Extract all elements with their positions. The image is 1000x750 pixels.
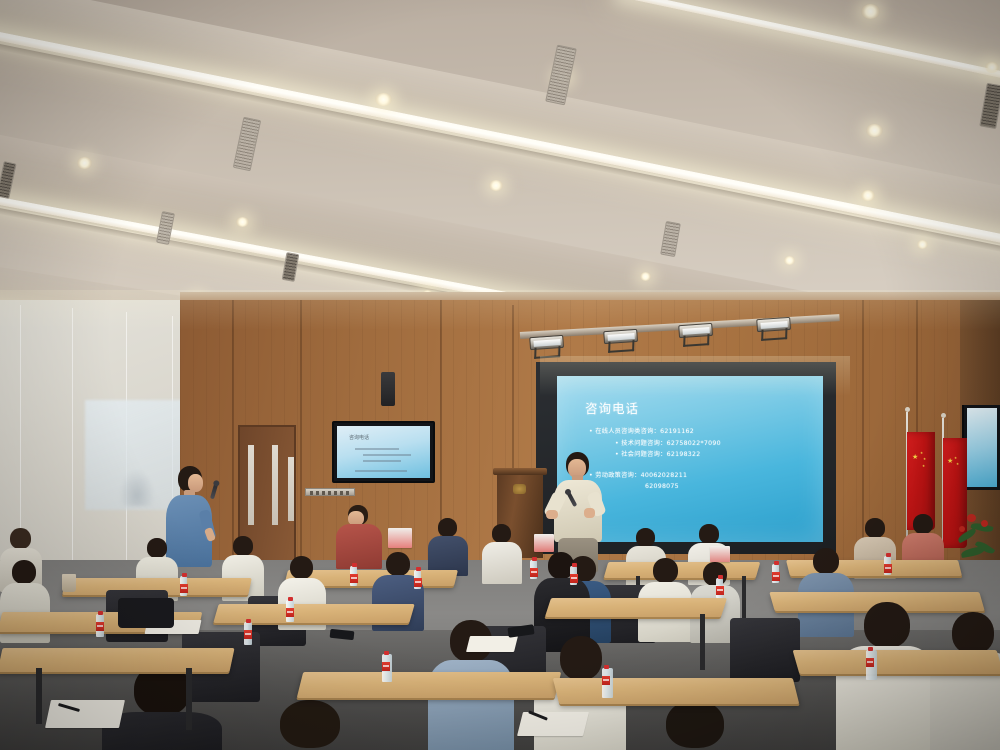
chair[interactable] xyxy=(730,618,800,682)
slide-bullet-line: • 社会问题咨询：62198322 xyxy=(589,449,809,461)
seated-attendee xyxy=(482,524,522,580)
attendee-desk-foreground xyxy=(297,672,561,698)
slide-bullet-line: • 在线人员咨询类咨询：62191162 xyxy=(589,426,809,438)
ceiling-air-vent xyxy=(545,45,577,106)
ceiling-downlight xyxy=(489,180,503,191)
stage-floodlight xyxy=(603,329,639,355)
ceiling-downlight xyxy=(784,256,795,265)
slide-bullet-line: 62098075 xyxy=(589,481,809,493)
attendee-desk-foreground xyxy=(793,650,1000,674)
conference-room-photo: 咨询电话 咨询电话 • 在线人员咨询类咨询：62191162 • 技术问题咨询：… xyxy=(0,0,1000,750)
slide-bullet-line: • 劳动政策咨询：40062028211 xyxy=(589,470,809,482)
ceiling-downlight xyxy=(861,4,880,19)
water-bottle[interactable] xyxy=(866,650,877,680)
left-monitor-title: 咨询电话 xyxy=(349,434,369,441)
table-tent-card xyxy=(534,534,554,552)
ceiling-air-vent xyxy=(979,83,1000,129)
attendee-desk-foreground xyxy=(553,678,799,704)
projection-figure-silhouette xyxy=(120,470,154,506)
water-bottle[interactable] xyxy=(244,622,252,645)
ceiling-air-vent xyxy=(233,117,261,172)
table-tent-card xyxy=(710,546,730,562)
table-tent-card xyxy=(388,528,412,548)
slide-title: 咨询电话 xyxy=(585,398,639,417)
notepad[interactable] xyxy=(45,700,125,728)
stage-floodlight xyxy=(678,323,714,349)
seated-attendee-foreground xyxy=(636,700,756,750)
seated-attendee-foreground xyxy=(930,612,1000,750)
seated-attendee xyxy=(428,518,468,573)
notepad[interactable] xyxy=(517,712,589,736)
seated-attendee-foreground xyxy=(250,700,370,750)
ceiling-downlight xyxy=(236,217,249,227)
water-bottle[interactable] xyxy=(530,560,537,579)
ceiling-downlight xyxy=(917,240,928,249)
water-bottle[interactable] xyxy=(382,654,392,682)
seated-attendee-foreground xyxy=(836,602,936,750)
paper-cup[interactable] xyxy=(62,574,76,592)
right-wall-monitor[interactable] xyxy=(962,405,1000,490)
ceiling-downlight xyxy=(861,190,875,201)
left-wall-monitor[interactable]: 咨询电话 xyxy=(332,421,435,483)
attendee-desk xyxy=(213,604,414,623)
ceiling-downlight xyxy=(985,62,999,73)
water-bottle[interactable] xyxy=(286,600,294,622)
notepad[interactable] xyxy=(466,636,518,652)
water-bottle[interactable] xyxy=(772,564,779,583)
stage-floodlight xyxy=(756,317,792,343)
water-bottle[interactable] xyxy=(350,566,357,586)
water-bottle[interactable] xyxy=(602,668,613,698)
ceiling-light-strip xyxy=(619,0,1000,88)
water-bottle[interactable] xyxy=(716,578,723,598)
slide-bullet-line: • 技术问题咨询：62758022*7090 xyxy=(589,438,809,450)
water-bottle[interactable] xyxy=(180,576,187,596)
water-bottle[interactable] xyxy=(884,556,891,575)
wall-speaker xyxy=(381,372,395,406)
stage-floodlight xyxy=(529,335,565,361)
slide-bullet-list: • 在线人员咨询类咨询：62191162 • 技术问题咨询：62758022*7… xyxy=(589,426,809,493)
water-bottle[interactable] xyxy=(414,570,421,589)
ceiling-downlight xyxy=(77,157,92,169)
ceiling-air-vent xyxy=(660,221,681,257)
ceiling-downlight xyxy=(866,124,883,137)
water-bottle[interactable] xyxy=(96,614,104,637)
water-bottle[interactable] xyxy=(570,566,577,585)
ceiling-downlight xyxy=(375,93,392,106)
laptop-bag xyxy=(118,598,174,628)
ceiling-downlight xyxy=(640,272,651,281)
wall-switch-plate[interactable] xyxy=(305,488,355,496)
